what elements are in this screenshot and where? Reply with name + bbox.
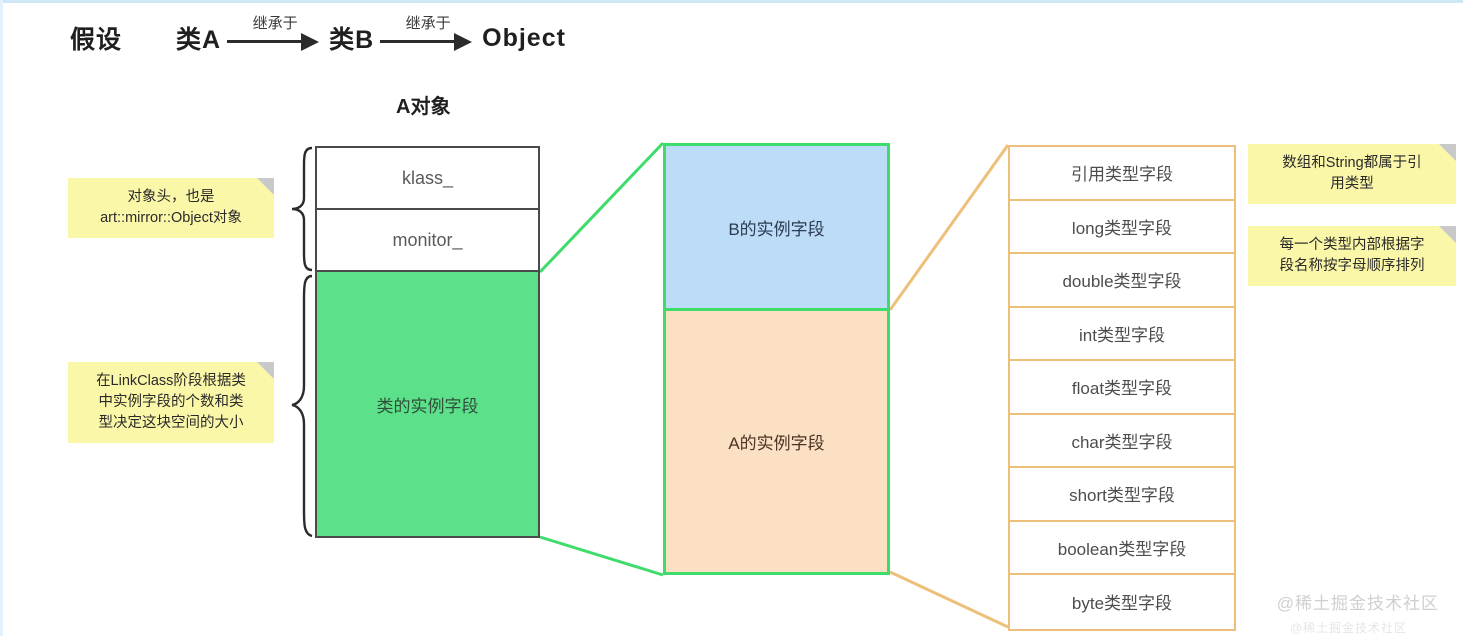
note-reference-types: 数组和String都属于引 用类型 <box>1248 144 1456 204</box>
field-row-byte: byte类型字段 <box>1010 575 1234 629</box>
watermark: @稀土掘金技术社区 <box>1277 589 1439 614</box>
note-alphabetical-order-text: 每一个类型内部根据字 段名称按字母顺序排列 <box>1280 237 1425 274</box>
inheritance-layout-box: B的实例字段 A的实例字段 <box>663 143 890 575</box>
note-alphabetical-order: 每一个类型内部根据字 段名称按字母顺序排列 <box>1248 226 1456 286</box>
object-cell-monitor: monitor_ <box>317 210 538 272</box>
field-row-reference: 引用类型字段 <box>1010 147 1234 201</box>
inherit-arrow-2-head <box>454 33 472 51</box>
page-title: A对象 <box>396 90 450 119</box>
note-fold-icon <box>1439 144 1456 161</box>
field-row-float: float类型字段 <box>1010 361 1234 415</box>
note-reference-types-text: 数组和String都属于引 用类型 <box>1282 155 1421 192</box>
diagram-canvas: 假设 类A 继承于 类B 继承于 Object A对象 <box>0 0 1463 636</box>
note-object-header-text: 对象头，也是 art::mirror::Object对象 <box>100 189 242 226</box>
watermark-secondary: @稀土掘金技术社区 <box>1290 619 1407 636</box>
top-border-rule <box>0 0 1463 3</box>
inherit-arrow-2: 继承于 <box>380 16 476 60</box>
orange-connector-bottom <box>890 572 1008 627</box>
inherit-arrow-2-label: 继承于 <box>406 12 451 33</box>
field-row-short: short类型字段 <box>1010 468 1234 522</box>
inherit-arrow-1-line <box>227 40 305 43</box>
object-cell-instance-fields: 类的实例字段 <box>317 272 538 536</box>
inherit-arrow-1-label: 继承于 <box>253 12 298 33</box>
left-border-rule <box>0 0 3 636</box>
note-linkclass: 在LinkClass阶段根据类 中实例字段的个数和类 型决定这块空间的大小 <box>68 362 274 443</box>
note-fold-icon <box>257 362 274 379</box>
class-b-label: 类B <box>329 20 374 56</box>
instance-fields-brace <box>290 274 314 538</box>
green-connector-bottom <box>540 537 663 575</box>
note-fold-icon <box>257 178 274 195</box>
field-row-int: int类型字段 <box>1010 308 1234 362</box>
note-linkclass-text: 在LinkClass阶段根据类 中实例字段的个数和类 型决定这块空间的大小 <box>96 373 246 431</box>
inheritance-header: 假设 类A 继承于 类B 继承于 Object <box>70 16 566 60</box>
a-object-box: klass_ monitor_ 类的实例字段 <box>315 146 540 538</box>
green-connector-top <box>540 143 663 272</box>
object-label: Object <box>482 24 566 53</box>
field-type-list: 引用类型字段 long类型字段 double类型字段 int类型字段 float… <box>1008 145 1236 631</box>
object-cell-klass: klass_ <box>317 148 538 210</box>
inherit-arrow-1-head <box>301 33 319 51</box>
note-fold-icon <box>1439 226 1456 243</box>
class-a-label: 类A <box>176 20 221 56</box>
b-instance-fields-cell: B的实例字段 <box>666 146 887 311</box>
object-header-brace <box>290 146 314 272</box>
field-row-char: char类型字段 <box>1010 415 1234 469</box>
inherit-arrow-1: 继承于 <box>227 16 323 60</box>
field-row-boolean: boolean类型字段 <box>1010 522 1234 576</box>
inherit-arrow-2-line <box>380 40 458 43</box>
note-object-header: 对象头，也是 art::mirror::Object对象 <box>68 178 274 238</box>
field-row-double: double类型字段 <box>1010 254 1234 308</box>
a-instance-fields-cell: A的实例字段 <box>666 311 887 572</box>
assume-label: 假设 <box>70 20 122 56</box>
orange-connector-top <box>890 145 1008 310</box>
field-row-long: long类型字段 <box>1010 201 1234 255</box>
